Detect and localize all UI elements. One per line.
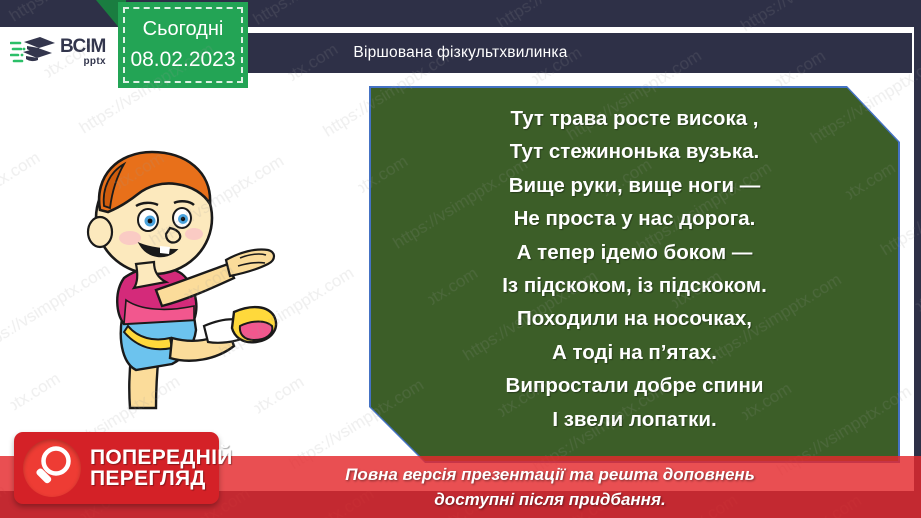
- preview-line-1: ПОПЕРЕДНІЙ: [90, 447, 233, 468]
- preview-badge[interactable]: ПОПЕРЕДНІЙ ПЕРЕГЛЯД: [14, 432, 219, 504]
- poem-line: Тут трава росте висока ,: [510, 102, 758, 135]
- poem-line: Із підскоком, із підскоком.: [502, 269, 767, 302]
- poem-line: Вище руки, вище ноги —: [509, 169, 761, 202]
- magnifier-icon: [23, 439, 81, 497]
- poem-line: Походили на носочках,: [517, 302, 752, 335]
- promo-line-2: доступні після придбання.: [230, 487, 870, 512]
- preview-line-2: ПЕРЕГЛЯД: [90, 468, 233, 489]
- preview-badge-label: ПОПЕРЕДНІЙ ПЕРЕГЛЯД: [90, 447, 233, 490]
- poem-line: Випростали добре спини: [506, 369, 764, 402]
- poem-line: Тут стежинонька вузька.: [510, 135, 759, 168]
- brand-logo[interactable]: ВСІМ pptx: [6, 28, 118, 76]
- graduation-cap-icon: [10, 35, 56, 69]
- promo-line-1: Повна версія презентації та решта доповн…: [230, 462, 870, 487]
- poem-line: А тепер ідемо боком —: [517, 236, 753, 269]
- promo-text: Повна версія презентації та решта доповн…: [230, 462, 870, 512]
- slide-canvas: Віршована фізкультхвилинка: [0, 0, 921, 518]
- brand-suffix: pptx: [84, 57, 106, 67]
- brand-wordmark: ВСІМ pptx: [60, 37, 106, 67]
- today-date-badge: Сьогодні 08.02.2023: [118, 2, 248, 88]
- poem-line: І звели лопатки.: [552, 403, 716, 436]
- poem-line: Не проста у нас дорога.: [514, 202, 756, 235]
- poem-text-block: Тут трава росте висока , Тут стежинонька…: [371, 96, 898, 461]
- boy-exercising-illustration: [44, 132, 284, 422]
- today-date: 08.02.2023: [130, 48, 235, 72]
- today-label: Сьогодні: [143, 18, 224, 41]
- poem-line: А тоді на п’ятах.: [552, 336, 717, 369]
- brand-name: ВСІМ: [60, 37, 106, 56]
- right-dark-rail: [914, 0, 921, 518]
